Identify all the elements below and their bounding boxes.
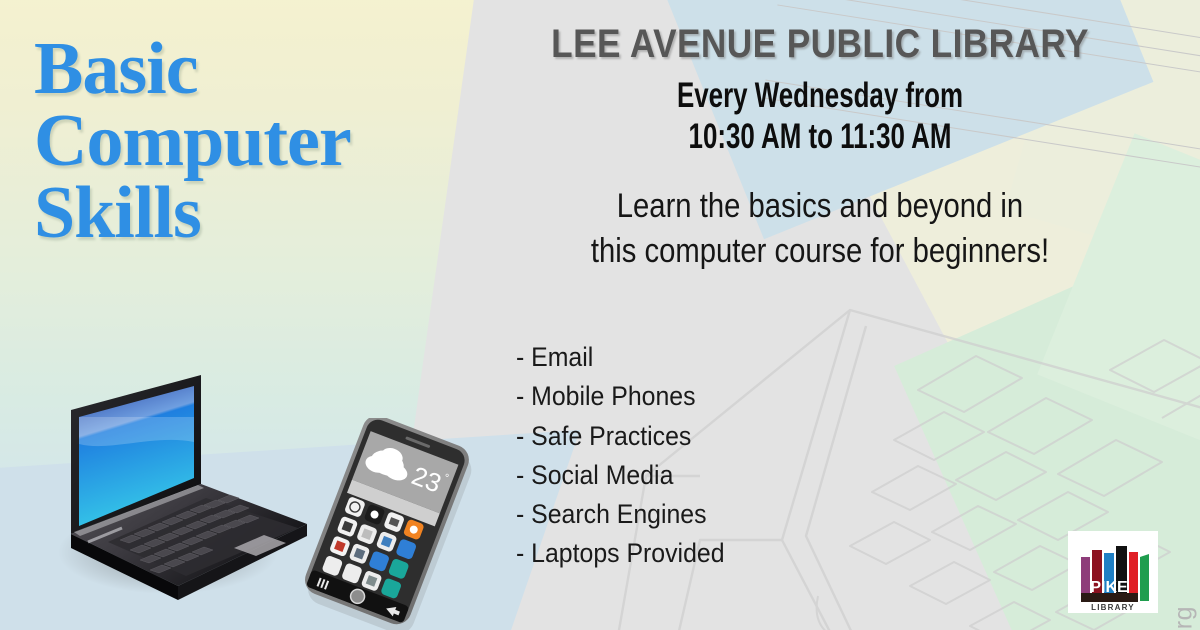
list-item: - Laptops Provided: [516, 534, 725, 573]
library-logo[interactable]: PIKE LIBRARY: [1068, 531, 1158, 613]
list-item: - Mobile Phones: [516, 377, 725, 416]
logo-wordmark: PIKE: [1090, 579, 1128, 596]
title-line-3: Skills: [34, 178, 504, 250]
schedule-block: Every Wednesday from 10:30 AM to 11:30 A…: [561, 75, 1079, 158]
pike-library-logo-icon: PIKE LIBRARY: [1068, 531, 1158, 613]
info-column: LEE AVENUE PUBLIC LIBRARY Every Wednesda…: [470, 22, 1170, 275]
schedule-line-2: 10:30 AM to 11:30 AM: [561, 116, 1079, 157]
page-title: Basic Computer Skills: [34, 34, 504, 249]
list-item: - Social Media: [516, 456, 725, 495]
poster-canvas: Basic Computer Skills LEE AVENUE PUBLIC …: [0, 0, 1200, 630]
website-url[interactable]: www.informationplace.org: [1169, 606, 1198, 630]
description-block: Learn the basics and beyond in this comp…: [519, 184, 1121, 275]
list-item: - Search Engines: [516, 495, 725, 534]
smartphone-illustration: 23 °: [290, 418, 500, 630]
description-line-2: this computer course for beginners!: [519, 229, 1121, 275]
topic-list: - Email - Mobile Phones - Safe Practices…: [516, 338, 725, 574]
list-item: - Email: [516, 338, 725, 377]
logo-subtitle: LIBRARY: [1091, 603, 1135, 612]
description-line-1: Learn the basics and beyond in: [519, 184, 1121, 230]
title-line-1: Basic: [34, 34, 504, 106]
organization-name: LEE AVENUE PUBLIC LIBRARY: [512, 22, 1128, 67]
title-line-2: Computer: [34, 106, 504, 178]
list-item: - Safe Practices: [516, 417, 725, 456]
schedule-line-1: Every Wednesday from: [561, 75, 1079, 116]
